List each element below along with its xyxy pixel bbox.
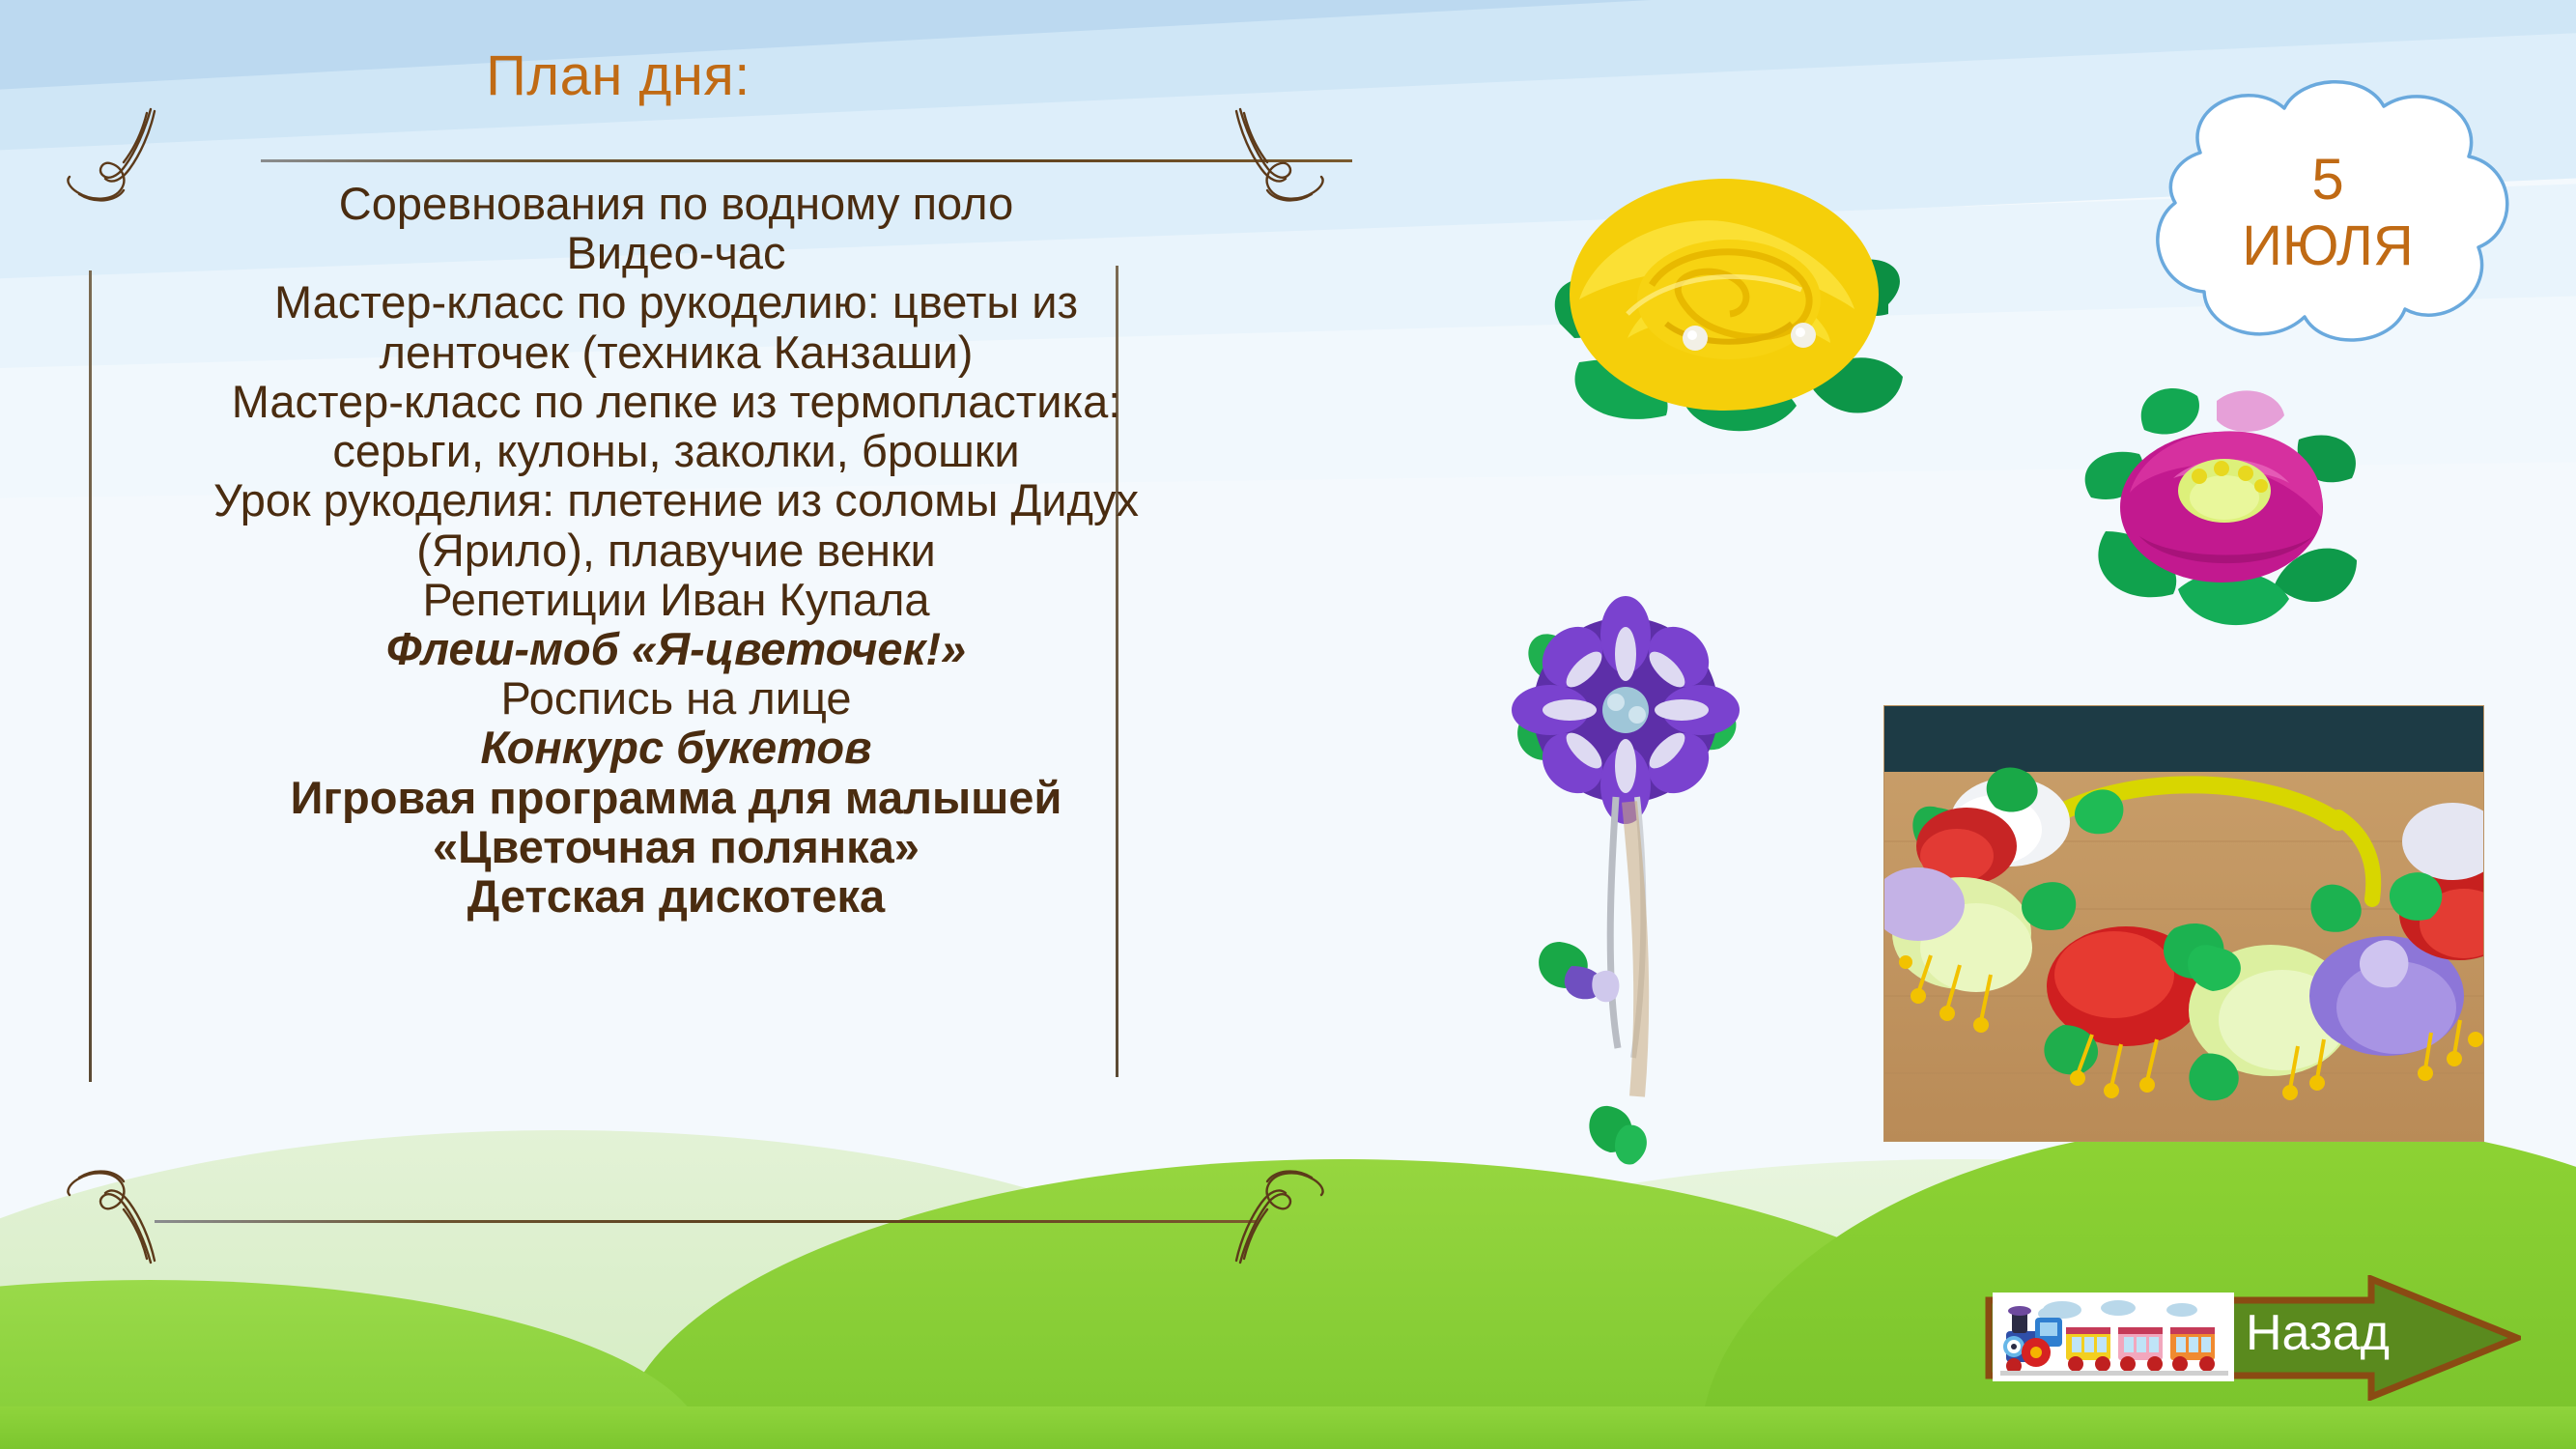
plan-item: «Цветочная полянка» [145,822,1207,871]
plan-item: Конкурс букетов [145,723,1207,772]
date-month: ИЮЛЯ [2242,217,2414,276]
plan-item: (Ярило), плавучие венки [145,526,1207,575]
photo-yellow-ribbon-rose [1521,140,1927,440]
back-button[interactable]: Назад [1985,1275,2521,1401]
plan-list: Соревнования по водному поло Видео-час М… [145,179,1207,921]
date-day: 5 [2311,149,2343,210]
photo-magenta-ribbon-flower [2072,362,2371,642]
plan-item: ленточек (техника Канзаши) [145,327,1207,377]
plan-item: серьги, кулоны, заколки, брошки [145,426,1207,475]
flourish-ornament-icon [58,1154,203,1270]
plan-item: Репетиции Иван Купала [145,575,1207,624]
back-button-label: Назад [2246,1304,2439,1362]
page-title: План дня: [348,43,889,108]
plan-item: Детская дискотека [145,871,1207,921]
flourish-ornament-icon [1188,101,1333,217]
plan-item: Соревнования по водному поло [145,179,1207,228]
photo-purple-kanzashi-flower [1502,594,1753,1193]
slide-canvas: План дня: [0,0,2576,1449]
date-cloud-badge: 5 ИЮЛЯ [2125,68,2531,357]
plan-item: Урок рукоделия: плетение из соломы Дидух [145,475,1207,525]
plan-item: Видео-час [145,228,1207,277]
plan-item: Мастер-класс по рукоделию: цветы из [145,277,1207,327]
train-icon [1993,1293,2234,1381]
frame-rule-bottom [155,1220,1256,1223]
frame-line-left [89,270,92,1082]
plan-item: Роспись на лице [145,673,1207,723]
flourish-ornament-icon [1188,1154,1333,1270]
grass-strip [0,1406,2576,1449]
plan-item: Мастер-класс по лепке из термопластика: [145,377,1207,426]
plan-item: Флеш-моб «Я-цветочек!» [145,624,1207,673]
photo-flower-wreath-headband [1883,705,2484,1142]
plan-item: Игровая программа для малышей [145,773,1207,822]
